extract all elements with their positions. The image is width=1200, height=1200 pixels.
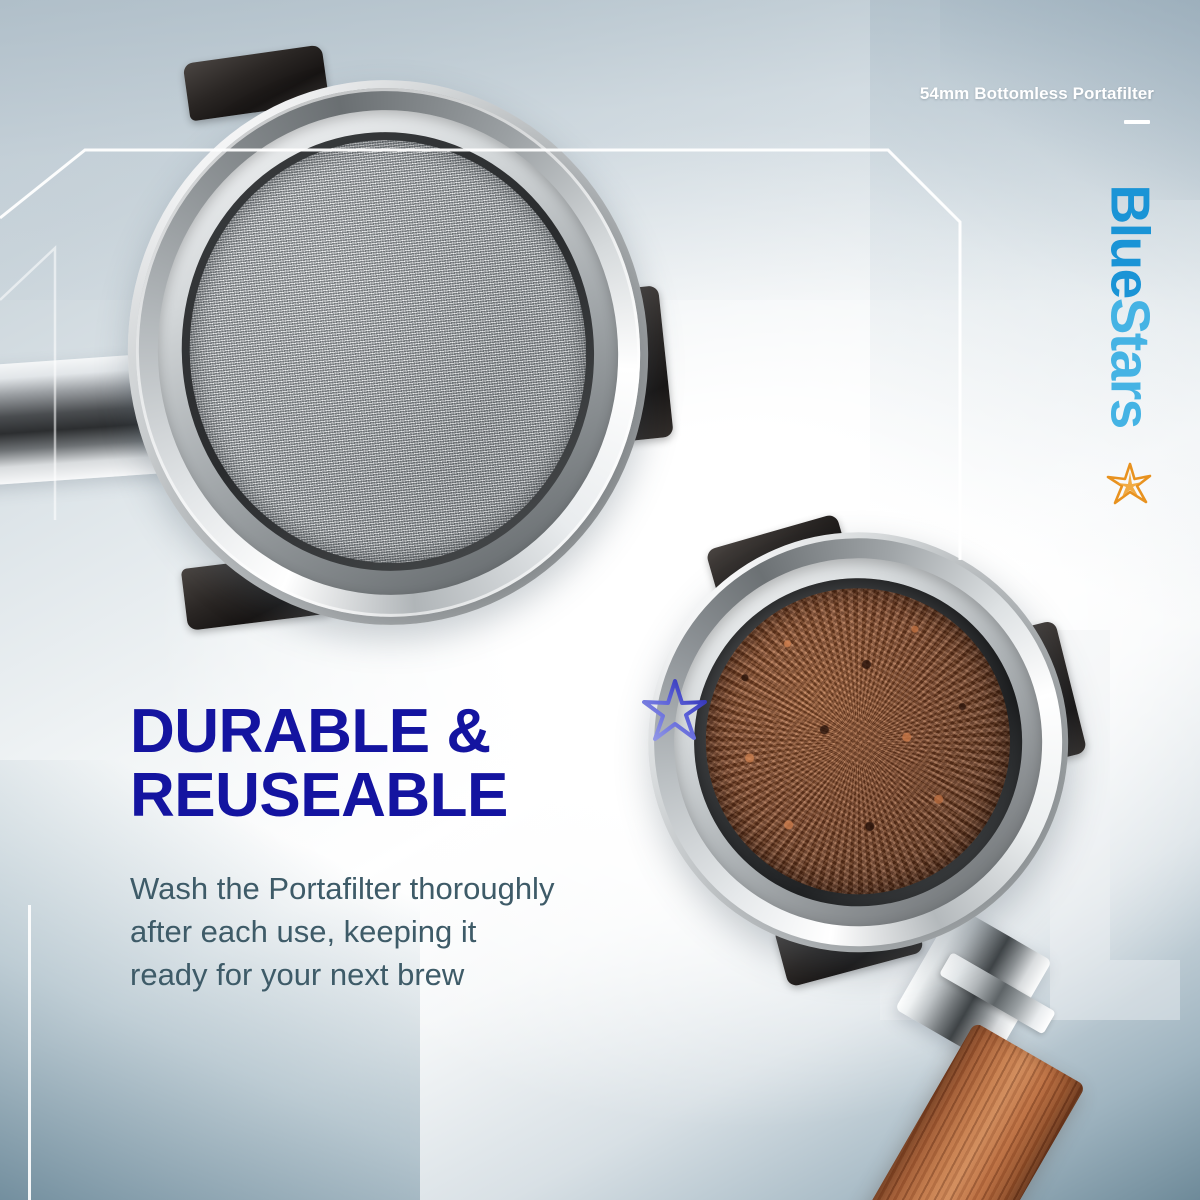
accent-line-decor: [0, 0, 1200, 1200]
brand-name-secondary: Stars: [1100, 298, 1162, 428]
brand-name-primary: Blue: [1100, 185, 1162, 298]
headline-line-2: REUSEABLE: [130, 764, 650, 828]
dash-icon: [1124, 120, 1150, 124]
body-copy: Wash the Portafilter thoroughly after ea…: [130, 868, 560, 996]
left-vertical-rule: [28, 905, 31, 1200]
brand-star-icon: [1106, 462, 1154, 510]
product-title: 54mm Bottomless Portafilter: [920, 84, 1154, 104]
outline-star-icon: [642, 678, 708, 744]
headline-block: DURABLE & REUSEABLE: [130, 700, 650, 828]
headline-line-1: DURABLE &: [130, 700, 650, 764]
product-marketing-canvas: 54mm Bottomless Portafilter BlueStars DU…: [0, 0, 1200, 1200]
